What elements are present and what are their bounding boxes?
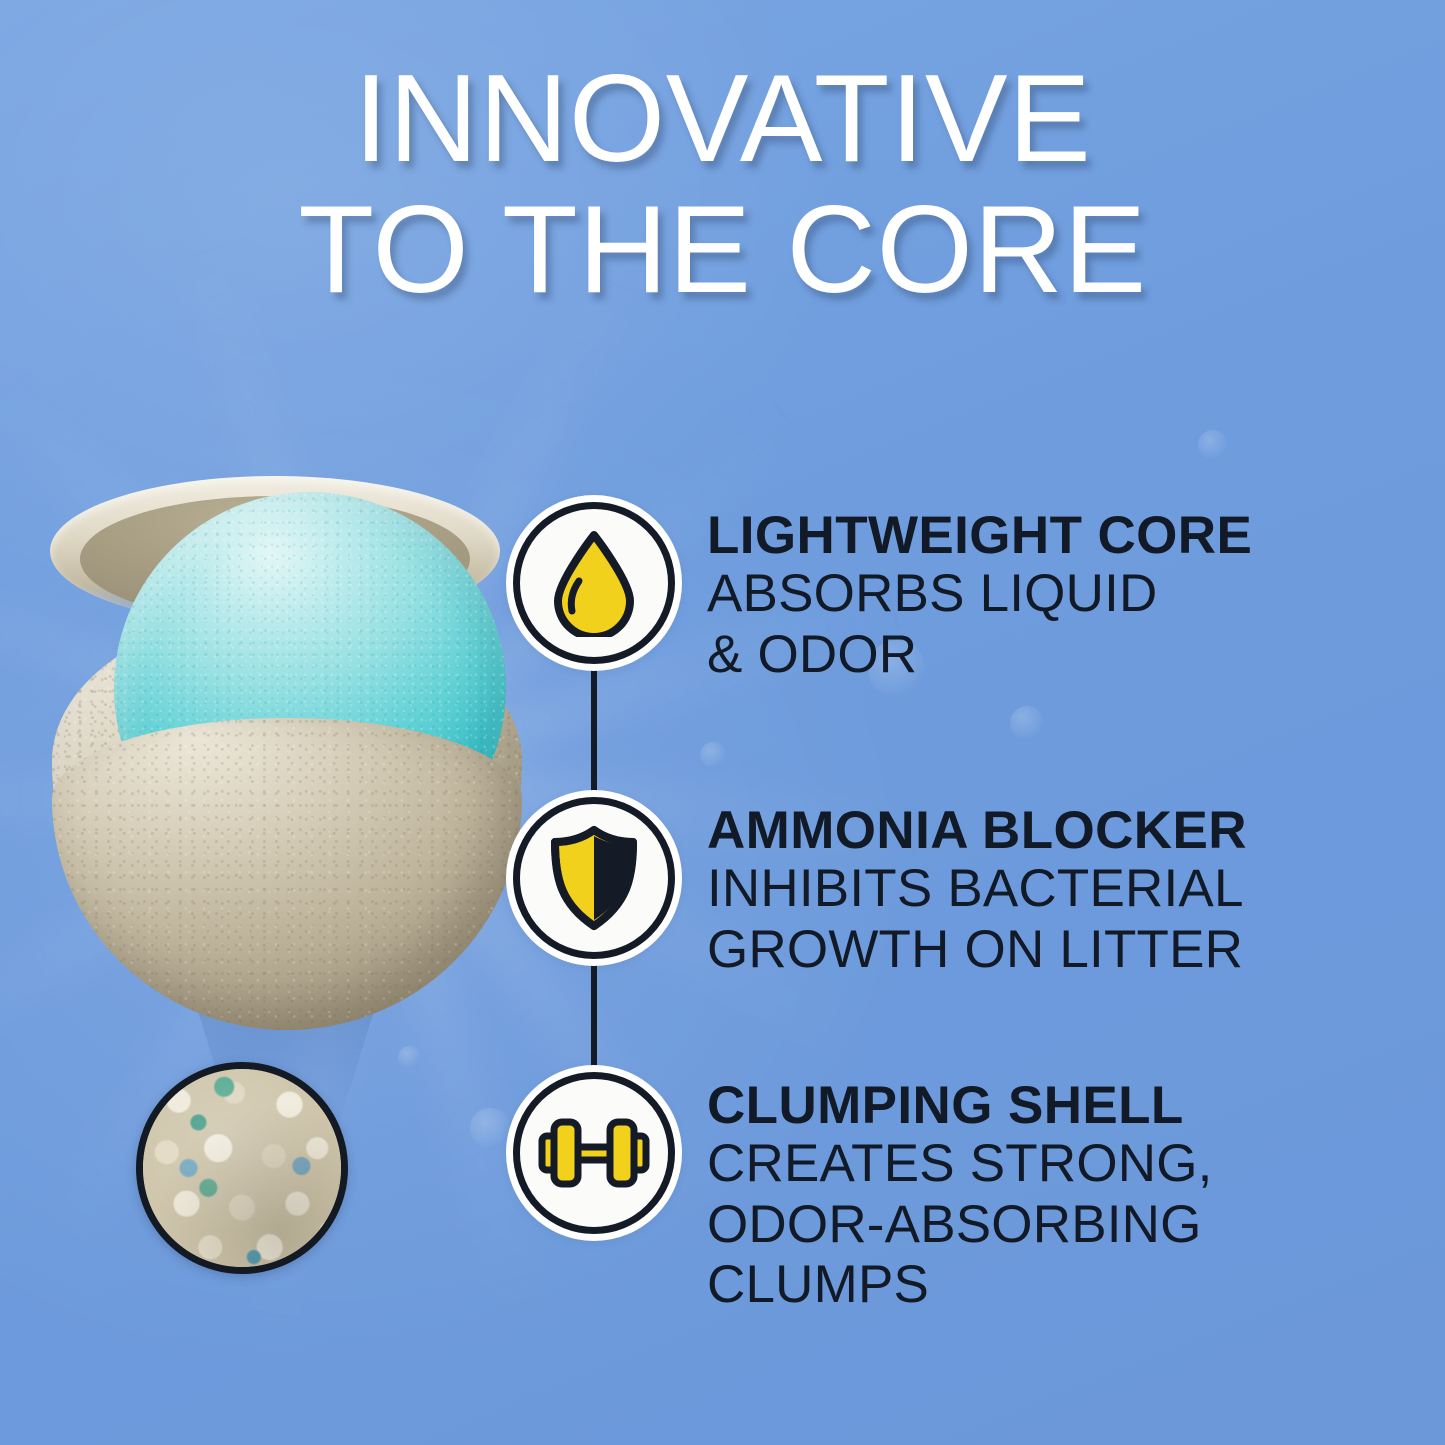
- title-line-2: TO THE CORE: [0, 185, 1445, 316]
- infographic-canvas: INNOVATIVE TO THE CORE: [0, 0, 1445, 1445]
- feature-heading: CLUMPING SHELL: [707, 1078, 1213, 1134]
- dumbbell-icon: [513, 1072, 675, 1234]
- droplet-icon: [513, 502, 675, 664]
- feature-ammonia-blocker: AMMONIA BLOCKER INHIBITS BACTERIAL GROWT…: [513, 797, 1247, 980]
- feature-clumping-shell: CLUMPING SHELL CREATES STRONG, ODOR-ABSO…: [513, 1072, 1213, 1315]
- feature-heading: AMMONIA BLOCKER: [707, 803, 1247, 859]
- shield-icon: [513, 797, 675, 959]
- title-line-1: INNOVATIVE: [0, 54, 1445, 185]
- feature-text: CLUMPING SHELL CREATES STRONG, ODOR-ABSO…: [707, 1072, 1213, 1315]
- feature-text: AMMONIA BLOCKER INHIBITS BACTERIAL GROWT…: [707, 797, 1247, 980]
- page-title: INNOVATIVE TO THE CORE: [0, 54, 1445, 317]
- feature-text: LIGHTWEIGHT CORE ABSORBS LIQUID & ODOR: [707, 502, 1252, 685]
- feature-body: CREATES STRONG, ODOR-ABSORBING CLUMPS: [707, 1134, 1213, 1315]
- feature-body: ABSORBS LIQUID & ODOR: [707, 564, 1252, 685]
- feature-body: INHIBITS BACTERIAL GROWTH ON LITTER: [707, 859, 1247, 980]
- feature-heading: LIGHTWEIGHT CORE: [707, 508, 1252, 564]
- feature-lightweight-core: LIGHTWEIGHT CORE ABSORBS LIQUID & ODOR: [513, 502, 1252, 685]
